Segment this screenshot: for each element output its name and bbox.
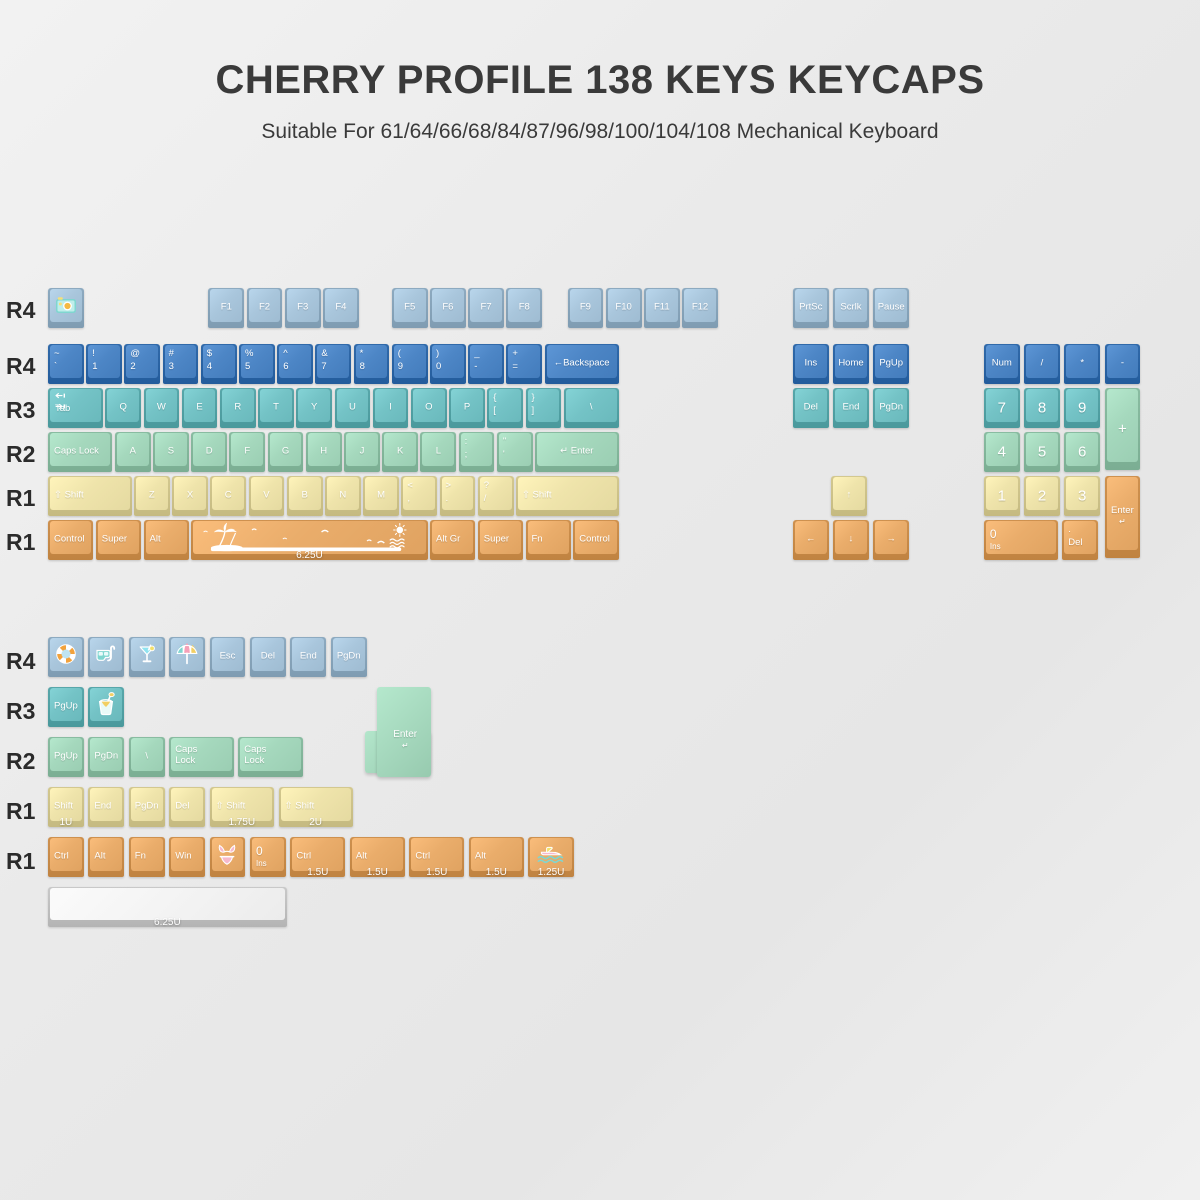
keycap-size-label: 6.25U (48, 917, 287, 927)
key-arrow-10[interactable]: → (873, 520, 909, 560)
keycap-surface (241, 345, 273, 378)
keycap-surface (608, 289, 640, 322)
key-extra2-2[interactable]: \ (129, 737, 165, 777)
key-e[interactable]: E (182, 388, 218, 428)
key-s[interactable]: S (153, 432, 189, 472)
keycap-surface (835, 389, 867, 422)
extra-row-label-3: R1 (6, 798, 48, 825)
key-ins[interactable]: Ins (793, 344, 829, 384)
key-lshift[interactable]: ⇧ Shift (48, 476, 132, 516)
key-numpad-7[interactable]: 7 (984, 388, 1020, 428)
key-f5[interactable]: F5 (392, 288, 428, 328)
keycap-surface (1064, 521, 1096, 554)
key-super[interactable]: Super (96, 520, 141, 560)
key-backspace[interactable]: ←Backspace (545, 344, 619, 384)
key-backslash[interactable]: \ (564, 388, 619, 428)
keycap-size-label: 1.5U (469, 867, 524, 877)
keycap-surface (537, 433, 617, 466)
key-extra-bottom-ctrl[interactable]: Ctrl (48, 837, 84, 877)
key-0[interactable]: )0 (430, 344, 466, 384)
key-extra-bottom-0[interactable]: 0Ins (250, 837, 286, 877)
keycap-surface (1107, 389, 1139, 462)
key-n[interactable]: N (325, 476, 361, 516)
key-o[interactable]: O (411, 388, 447, 428)
snorkel-icon (94, 643, 118, 665)
keycap-surface (90, 788, 122, 821)
keycap-surface (684, 289, 716, 322)
keycap-surface (252, 838, 284, 871)
key-numpad-enter[interactable]: Enter↵ (1105, 476, 1141, 558)
key-9[interactable]: (9 (392, 344, 428, 384)
key-beach-umbrella[interactable] (169, 637, 205, 677)
keycap-surface (287, 289, 319, 322)
key-enter[interactable]: ↵ Enter (535, 432, 619, 472)
keycap-surface (480, 477, 512, 510)
key-numpad-1[interactable]: 1 (984, 476, 1020, 516)
key-z[interactable]: Z (134, 476, 170, 516)
row-label-3: R2 (6, 441, 48, 468)
keycap-surface (1026, 477, 1058, 510)
key-punct-11[interactable]: "' (497, 432, 533, 472)
keycap-surface (461, 433, 493, 466)
keycap-surface (508, 345, 540, 378)
keycap-surface (528, 389, 560, 422)
key-b[interactable]: B (287, 476, 323, 516)
keycap-surface (875, 389, 907, 422)
key-numpad-9[interactable]: 9 (1064, 388, 1100, 428)
key-numpad-0[interactable]: 0Ins (984, 520, 1058, 560)
keycap-surface (375, 389, 407, 422)
keycap-surface (1066, 389, 1098, 422)
key-bracket-12[interactable]: }] (526, 388, 562, 428)
keycap-surface (875, 521, 907, 554)
key-h[interactable]: H (306, 432, 342, 472)
keycap-surface (795, 389, 827, 422)
keycap-surface (260, 389, 292, 422)
keycap-surface (1107, 477, 1139, 550)
key-bikini[interactable] (210, 837, 246, 877)
key-extra-bottom-alt[interactable]: Alt (88, 837, 124, 877)
keycap-surface (403, 477, 435, 510)
key-pgup[interactable]: PgUp (873, 344, 909, 384)
key-extra-shift-4[interactable]: ⇧ Shift1.75U (210, 787, 274, 827)
key-scrlk[interactable]: Scrlk (833, 288, 869, 328)
beach-scene (198, 522, 420, 552)
key-num-19[interactable]: * (1064, 344, 1100, 384)
keycap-surface (986, 477, 1018, 510)
key-control[interactable]: Control (573, 520, 618, 560)
row-label-5: R1 (6, 529, 48, 556)
keycap-surface (1026, 433, 1058, 466)
keycap-size-label: 1.5U (290, 867, 345, 877)
key-l[interactable]: L (420, 432, 456, 472)
key-extra2-0[interactable]: PgUp (48, 737, 84, 777)
beach-umbrella-icon (175, 643, 199, 665)
key-spacebar[interactable]: 6.25U (191, 520, 427, 560)
key-p[interactable]: P (449, 388, 485, 428)
extra-row-label-4: R1 (6, 848, 48, 875)
key-c[interactable]: C (210, 476, 246, 516)
keycap-surface (1066, 433, 1098, 466)
keycap-size-label: 6.25U (191, 550, 427, 560)
camera-sunset-icon (55, 296, 77, 314)
row-label-1: R4 (6, 353, 48, 380)
key-numpad-5[interactable]: 5 (1024, 432, 1060, 472)
keycap-surface (646, 289, 678, 322)
keycap-surface (489, 389, 521, 422)
keycap-surface (1066, 477, 1098, 510)
key-t[interactable]: T (258, 388, 294, 428)
key-punct-z-10[interactable]: ?/ (478, 476, 514, 516)
keycap-surface (146, 389, 178, 422)
keycap-surface (394, 345, 426, 378)
keycap-surface (795, 521, 827, 554)
key-numpad-4[interactable]: 4 (984, 432, 1020, 472)
keycap-surface (131, 788, 163, 821)
keycap-surface (442, 477, 474, 510)
keycap-surface (98, 521, 139, 554)
keycap-size-label: 1.75U (210, 817, 274, 827)
keycap-surface (171, 788, 203, 821)
keycap-surface (251, 477, 283, 510)
key-extra-shift-0[interactable]: Shift1U (48, 787, 84, 827)
keycap-surface (432, 521, 473, 554)
keycap-surface (231, 433, 263, 466)
key-u[interactable]: U (335, 388, 371, 428)
key-end[interactable]: End (833, 388, 869, 428)
key-extra-bottom-alt[interactable]: Alt1.5U (469, 837, 524, 877)
keycap-surface (90, 838, 122, 871)
key-super[interactable]: Super (478, 520, 523, 560)
key-a[interactable]: A (115, 432, 151, 472)
keycap-surface (333, 638, 365, 671)
keycap-surface (795, 345, 827, 378)
keycap-surface (795, 289, 827, 322)
key-snorkel[interactable] (88, 637, 124, 677)
key-`[interactable]: ~` (48, 344, 84, 384)
key-6[interactable]: ^6 (277, 344, 313, 384)
key-alt-gr[interactable]: Alt Gr (430, 520, 475, 560)
keycap-surface (212, 477, 244, 510)
keycap-surface (131, 838, 163, 871)
key-f4[interactable]: F4 (323, 288, 359, 328)
key-arrow-9[interactable]: ↓ (833, 520, 869, 560)
keycap-size-label: 1.5U (409, 867, 464, 877)
key-f[interactable]: F (229, 432, 265, 472)
keycap-surface (222, 389, 254, 422)
key-esc[interactable] (48, 288, 84, 328)
keycap-surface (240, 738, 300, 771)
keycap-surface (875, 345, 907, 378)
keycap-surface (356, 345, 388, 378)
key-del[interactable]: Del (793, 388, 829, 428)
key-pgdn[interactable]: PgDn (873, 388, 909, 428)
key-k[interactable]: K (382, 432, 418, 472)
bikini-icon (217, 843, 237, 865)
key-alt[interactable]: Alt (144, 520, 189, 560)
keycap-surface (986, 389, 1018, 422)
key-extra-bottom-win[interactable]: Win (169, 837, 205, 877)
key-8[interactable]: *8 (354, 344, 390, 384)
key-i[interactable]: I (373, 388, 409, 428)
keycap-surface (252, 638, 284, 671)
tab-icon (53, 392, 73, 412)
key-cocktail[interactable] (129, 637, 165, 677)
keycap-size-label: 2U (279, 817, 353, 827)
keycap-surface (1066, 345, 1098, 378)
keycap-surface (90, 738, 122, 771)
key-arrow-up[interactable]: ↑ (831, 476, 867, 516)
keycap-surface (480, 521, 521, 554)
keycap-surface (126, 345, 158, 378)
key-j[interactable]: J (344, 432, 380, 472)
keycap-surface (193, 433, 225, 466)
key-num-18[interactable]: / (1024, 344, 1060, 384)
keycap-surface (88, 345, 120, 378)
keycap-surface (165, 345, 197, 378)
key-f11[interactable]: F11 (644, 288, 680, 328)
keycap-surface (270, 433, 302, 466)
key-extra-shift-3[interactable]: Del (169, 787, 205, 827)
key-extra-bottom-ctrl[interactable]: Ctrl1.5U (290, 837, 345, 877)
iso-enter-legend: Enter↵ (377, 729, 434, 751)
keycap-surface (394, 289, 426, 322)
key-f9[interactable]: F9 (568, 288, 604, 328)
keycap-surface (210, 289, 242, 322)
keycap-surface (317, 345, 349, 378)
keycap-surface (107, 389, 139, 422)
key-1[interactable]: !1 (86, 344, 122, 384)
key-rshift[interactable]: ⇧ Shift (516, 476, 619, 516)
key-f12[interactable]: F12 (682, 288, 718, 328)
key-f10[interactable]: F10 (606, 288, 642, 328)
keycap-surface (432, 289, 464, 322)
key-extra-pgdn[interactable]: PgDn (331, 637, 367, 677)
key-arrow-8[interactable]: ← (793, 520, 829, 560)
keycap-surface (835, 345, 867, 378)
keycap-surface (146, 521, 187, 554)
key-d[interactable]: D (191, 432, 227, 472)
key--[interactable]: _- (468, 344, 504, 384)
keycap-surface (289, 477, 321, 510)
keycap-surface (117, 433, 149, 466)
key-=[interactable]: += (506, 344, 542, 384)
row-label-2: R3 (6, 397, 48, 424)
keycap-size-label: 1.5U (350, 867, 405, 877)
keycap-surface (50, 888, 285, 920)
keycap-surface (50, 477, 130, 510)
key-num-20[interactable]: - (1105, 344, 1141, 384)
life-ring-icon (55, 643, 77, 665)
key-7[interactable]: &7 (315, 344, 351, 384)
key-numpad-3[interactable]: 3 (1064, 476, 1100, 516)
key-control[interactable]: Control (48, 520, 93, 560)
key-extra-del[interactable]: Del (250, 637, 286, 677)
page-subtitle: Suitable For 61/64/66/68/84/87/96/98/100… (0, 120, 1200, 144)
keycap-surface (292, 638, 324, 671)
key-x[interactable]: X (172, 476, 208, 516)
key-f8[interactable]: F8 (506, 288, 542, 328)
key-life-ring[interactable] (48, 637, 84, 677)
key-spacebar-white[interactable]: 6.25U (48, 887, 287, 927)
key-caps-lock[interactable]: Caps Lock (48, 432, 112, 472)
keycap-surface (174, 477, 206, 510)
keycap-surface (566, 389, 617, 422)
keycap-surface (518, 477, 617, 510)
key-bracket-11[interactable]: {[ (487, 388, 523, 428)
key-3[interactable]: #3 (163, 344, 199, 384)
key-v[interactable]: V (249, 476, 285, 516)
keycap-surface (835, 521, 867, 554)
extra-row-label-2: R2 (6, 748, 48, 775)
keycap-surface (325, 289, 357, 322)
key-m[interactable]: M (363, 476, 399, 516)
keycap-surface (413, 389, 445, 422)
key-punct-z-9[interactable]: >. (440, 476, 476, 516)
keycap-surface (833, 477, 865, 510)
key-extra-caps-3[interactable]: CapsLock (169, 737, 233, 777)
key-5[interactable]: %5 (239, 344, 275, 384)
keycap-surface (346, 433, 378, 466)
keycap-surface (131, 738, 163, 771)
keycap-surface (212, 638, 244, 671)
key-extra2-1[interactable]: PgDn (88, 737, 124, 777)
extra-row-label-1: R3 (6, 698, 48, 725)
key-tab[interactable]: Tab (48, 388, 103, 428)
keycap-surface (422, 433, 454, 466)
keycap-surface (470, 289, 502, 322)
keycap-surface (327, 477, 359, 510)
keycap-surface (875, 289, 907, 322)
key-numpad-dot[interactable]: .Del (1062, 520, 1098, 560)
key-extra-esc[interactable]: Esc (210, 637, 246, 677)
keycap-size-label: 1U (48, 817, 84, 827)
key-y[interactable]: Y (296, 388, 332, 428)
key-r[interactable]: R (220, 388, 256, 428)
keycap-surface (365, 477, 397, 510)
keycap-surface (470, 345, 502, 378)
key-f7[interactable]: F7 (468, 288, 504, 328)
keycap-surface (50, 838, 82, 871)
key-numpad-2[interactable]: 2 (1024, 476, 1060, 516)
keycap-surface (528, 521, 569, 554)
keycap-surface (499, 433, 531, 466)
key-fn[interactable]: Fn (526, 520, 571, 560)
row-label-0: R4 (6, 297, 48, 324)
keycap-surface (432, 345, 464, 378)
keycap-surface (50, 433, 110, 466)
keycap-surface (50, 738, 82, 771)
keycap-surface (835, 289, 867, 322)
keycap-surface (279, 345, 311, 378)
boat-icon (537, 844, 565, 864)
key-extra-bottom-alt[interactable]: Alt1.5U (350, 837, 405, 877)
keycap-surface (575, 521, 616, 554)
key-f2[interactable]: F2 (247, 288, 283, 328)
keycap-size-label: 1.25U (528, 867, 573, 877)
row-label-4: R1 (6, 485, 48, 512)
cocktail-icon (137, 643, 157, 665)
keycap-surface (298, 389, 330, 422)
key-numpad-6[interactable]: 6 (1064, 432, 1100, 472)
key-extra-pgup[interactable]: PgUp (48, 687, 84, 727)
key-f3[interactable]: F3 (285, 288, 321, 328)
key-f6[interactable]: F6 (430, 288, 466, 328)
key-4[interactable]: $4 (201, 344, 237, 384)
keycap-surface (50, 521, 91, 554)
keycap-surface (986, 521, 1056, 554)
page-title: CHERRY PROFILE 138 KEYS KEYCAPS (0, 58, 1200, 103)
keycap-surface (184, 389, 216, 422)
keycap-surface (570, 289, 602, 322)
key-extra-end[interactable]: End (290, 637, 326, 677)
key-numpad-8[interactable]: 8 (1024, 388, 1060, 428)
keycap-surface (308, 433, 340, 466)
keycap-surface (249, 289, 281, 322)
key-f1[interactable]: F1 (208, 288, 244, 328)
key-extra-shift-2[interactable]: PgDn (129, 787, 165, 827)
keycap-surface (337, 389, 369, 422)
keycap-surface (171, 738, 231, 771)
key-sand-bucket[interactable] (88, 687, 124, 727)
key-numpad-plus[interactable]: + (1105, 388, 1141, 470)
keycap-surface (203, 345, 235, 378)
key-pause[interactable]: Pause (873, 288, 909, 328)
key-extra-shift-5[interactable]: ⇧ Shift2U (279, 787, 353, 827)
key-boat[interactable]: 1.25U (528, 837, 573, 877)
keycap-surface (1026, 389, 1058, 422)
keycap-surface (547, 345, 617, 378)
key-punct-z-8[interactable]: <, (401, 476, 437, 516)
keycap-surface (451, 389, 483, 422)
key-prtsc[interactable]: PrtSc (793, 288, 829, 328)
keycap-surface (136, 477, 168, 510)
key-num-17[interactable]: Num (984, 344, 1020, 384)
key-extra-bottom-fn[interactable]: Fn (129, 837, 165, 877)
keycap-surface (508, 289, 540, 322)
key-punct-10[interactable]: :; (459, 432, 495, 472)
key-extra-caps-4[interactable]: CapsLock (238, 737, 302, 777)
keycap-surface (986, 433, 1018, 466)
key-g[interactable]: G (268, 432, 304, 472)
key-w[interactable]: W (144, 388, 180, 428)
keycap-surface (50, 688, 82, 721)
keycap-surface (986, 345, 1018, 378)
key-extra-shift-1[interactable]: End (88, 787, 124, 827)
extra-row-label-0: R4 (6, 648, 48, 675)
keycap-surface (1026, 345, 1058, 378)
key-iso-enter[interactable]: Enter↵ (377, 687, 434, 781)
keycap-surface (171, 838, 203, 871)
sand-bucket-icon (95, 692, 117, 716)
key-2[interactable]: @2 (124, 344, 160, 384)
key-extra-bottom-ctrl[interactable]: Ctrl1.5U (409, 837, 464, 877)
keycap-surface (50, 345, 82, 378)
keycap-surface (155, 433, 187, 466)
keycap-surface (384, 433, 416, 466)
key-home[interactable]: Home (833, 344, 869, 384)
key-q[interactable]: Q (105, 388, 141, 428)
keycap-surface (1107, 345, 1139, 378)
